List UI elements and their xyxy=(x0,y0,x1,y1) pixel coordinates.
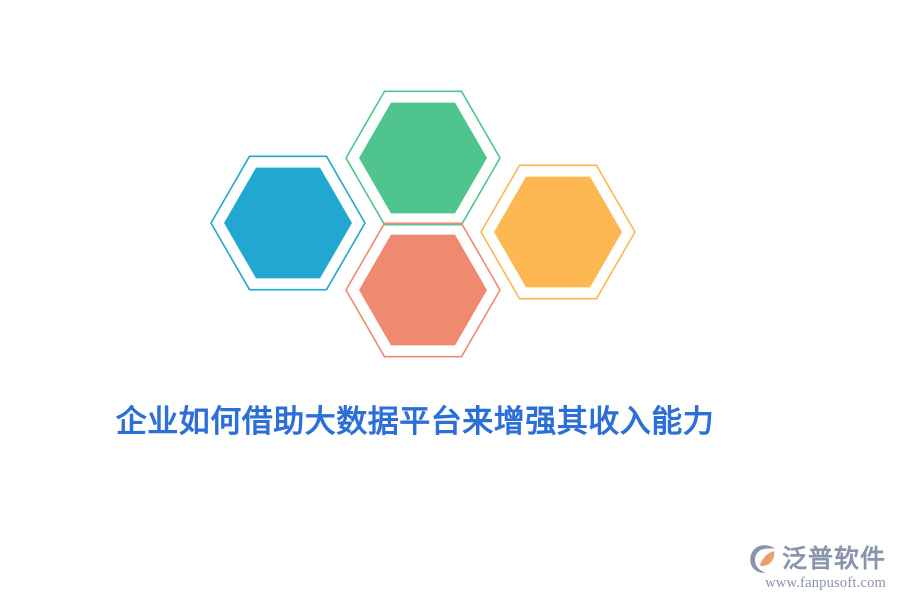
hexagon-salmon-fill xyxy=(359,235,487,346)
brand-name: 泛普软件 xyxy=(782,547,886,572)
hexagon-green-fill xyxy=(359,103,487,214)
hexagon-cluster-graphic xyxy=(0,0,900,600)
hexagon-orange-fill xyxy=(494,177,622,288)
hexagon-blue xyxy=(211,156,365,289)
hexagon-green xyxy=(346,91,500,224)
fanpu-swoosh-logo-icon xyxy=(749,544,779,574)
hexagon-orange xyxy=(481,165,635,298)
hexagon-salmon xyxy=(346,223,500,356)
page-title: 企业如何借助大数据平台来增强其收入能力 xyxy=(0,396,830,441)
slide-canvas: 企业如何借助大数据平台来增强其收入能力 泛普软件 www.fanpusoft.c… xyxy=(0,0,900,600)
brand-url: www.fanpusoft.com xyxy=(765,575,886,592)
hexagon-blue-fill xyxy=(224,168,352,279)
brand-logo: 泛普软件 www.fanpusoft.com xyxy=(749,544,886,592)
brand-logo-row: 泛普软件 xyxy=(749,544,886,574)
